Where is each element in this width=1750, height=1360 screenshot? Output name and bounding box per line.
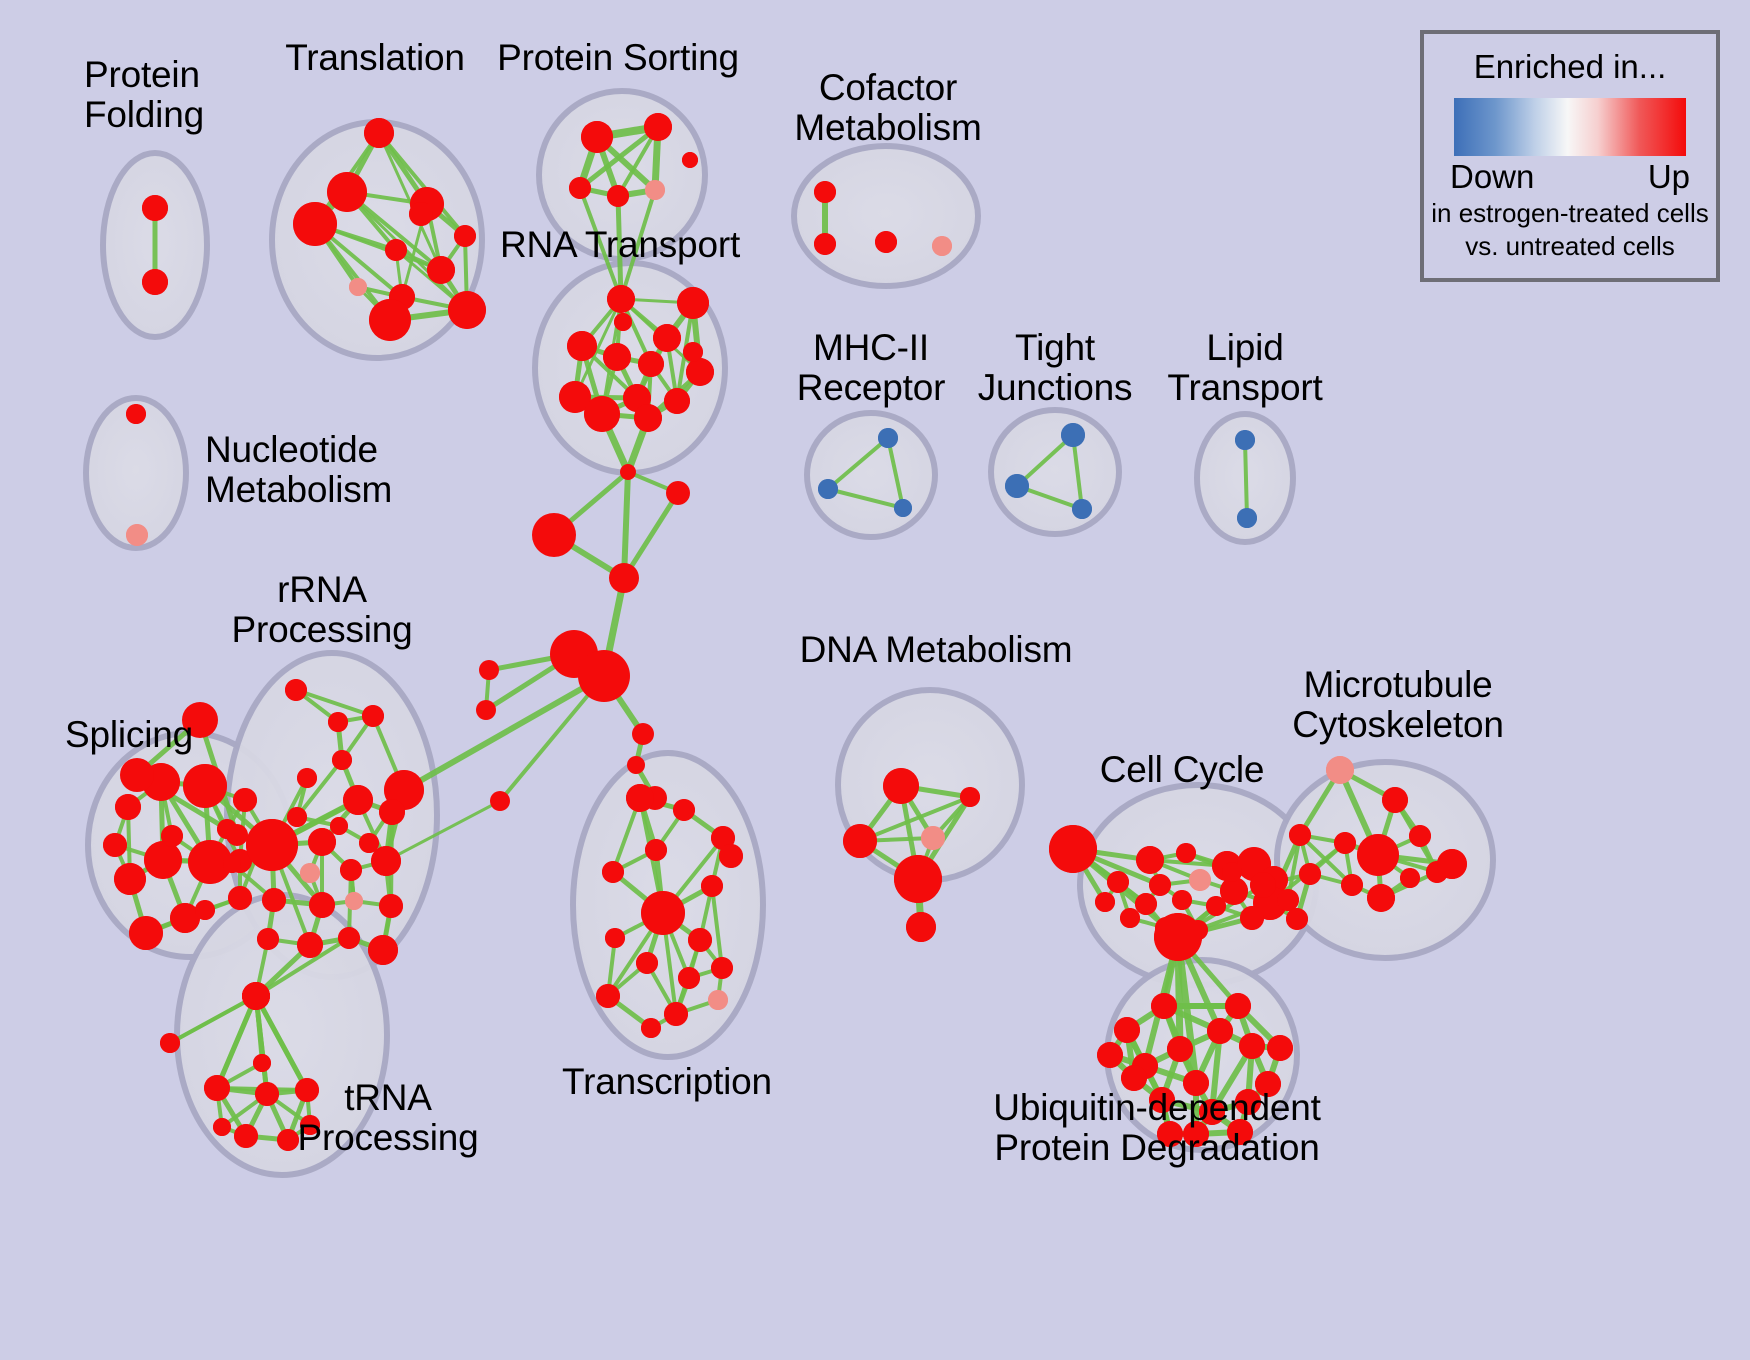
label-transcription: Transcription	[562, 1062, 772, 1102]
enrichment-map-figure: Protein Folding Translation Protein Sort…	[0, 0, 1750, 1360]
label-cell-cycle: Cell Cycle	[1100, 750, 1265, 790]
label-cofactor-metabolism: Cofactor Metabolism	[794, 68, 981, 147]
label-mhc-ii-receptor: MHC-II Receptor	[797, 328, 946, 407]
legend-high-label: Up	[1648, 158, 1690, 196]
label-splicing: Splicing	[65, 715, 193, 755]
label-dna-metabolism: DNA Metabolism	[800, 630, 1073, 670]
label-rna-transport: RNA Transport	[500, 225, 740, 265]
label-lipid-transport: Lipid Transport	[1167, 328, 1322, 407]
legend-caption-line-2: vs. untreated cells	[1424, 231, 1716, 262]
legend-color-gradient-bar	[1454, 98, 1686, 156]
label-microtubule-cytoskeleton: Microtubule Cytoskeleton	[1292, 665, 1504, 744]
label-protein-folding: Protein Folding	[84, 55, 204, 134]
label-protein-sorting: Protein Sorting	[497, 38, 739, 78]
legend-caption-line-1: in estrogen-treated cells	[1424, 198, 1716, 229]
label-rrna-processing: rRNA Processing	[231, 570, 412, 649]
label-ubiquitin-protein-degradation: Ubiquitin-dependent Protein Degradation	[993, 1088, 1320, 1167]
legend-title: Enriched in...	[1424, 48, 1716, 86]
label-nucleotide-metabolism: Nucleotide Metabolism	[205, 430, 392, 509]
legend-box: Enriched in... Down Up in estrogen-treat…	[1420, 30, 1720, 282]
legend-low-label: Down	[1450, 158, 1534, 196]
label-translation: Translation	[285, 38, 464, 78]
label-tight-junctions: Tight Junctions	[978, 328, 1133, 407]
label-trna-processing: tRNA Processing	[297, 1078, 478, 1157]
